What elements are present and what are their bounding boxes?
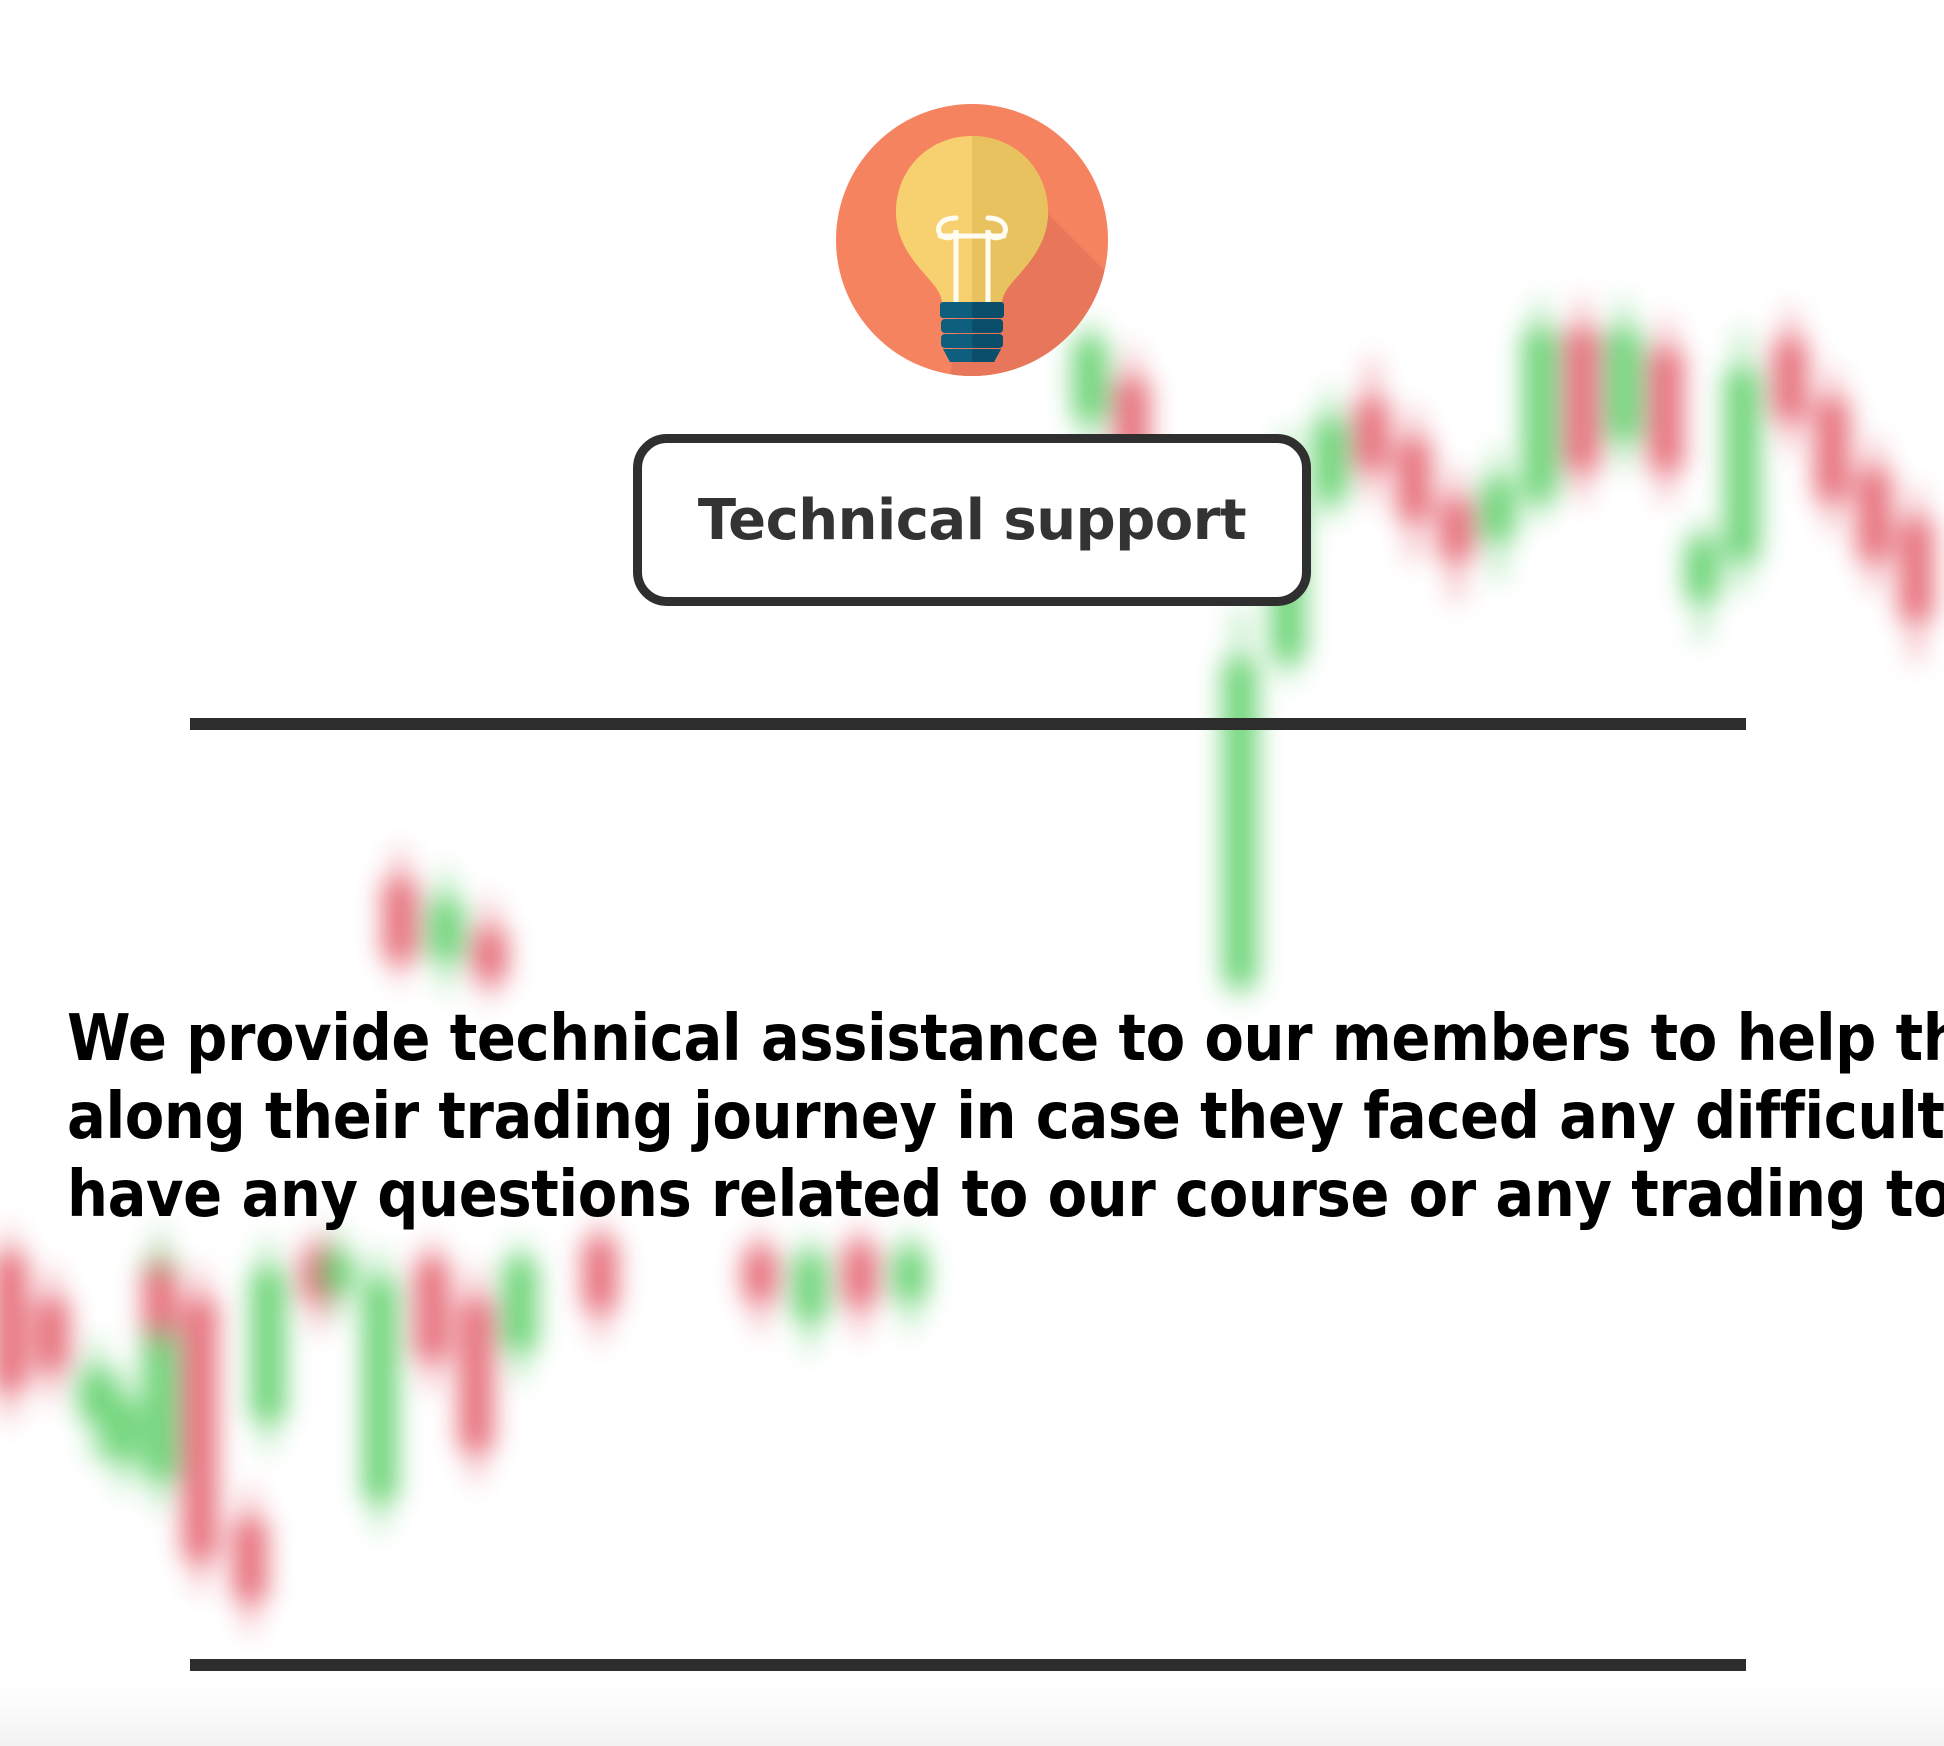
technical-support-badge[interactable]: Technical support bbox=[633, 434, 1311, 606]
body-line-1: We provide technical assistance to our m… bbox=[67, 1000, 1877, 1078]
divider-bottom bbox=[190, 1659, 1746, 1671]
body-line-3: have any questions related to our course… bbox=[67, 1156, 1877, 1234]
promo-card: Technical support We provide technical a… bbox=[0, 0, 1944, 1746]
footer-band bbox=[0, 1684, 1944, 1746]
body-line-2: along their trading journey in case they… bbox=[67, 1078, 1877, 1156]
technical-support-label: Technical support bbox=[698, 488, 1246, 553]
card-content: Technical support We provide technical a… bbox=[0, 0, 1944, 1746]
lightbulb-icon bbox=[828, 96, 1116, 384]
body-paragraph: We provide technical assistance to our m… bbox=[67, 1000, 1877, 1234]
divider-top bbox=[190, 718, 1746, 730]
